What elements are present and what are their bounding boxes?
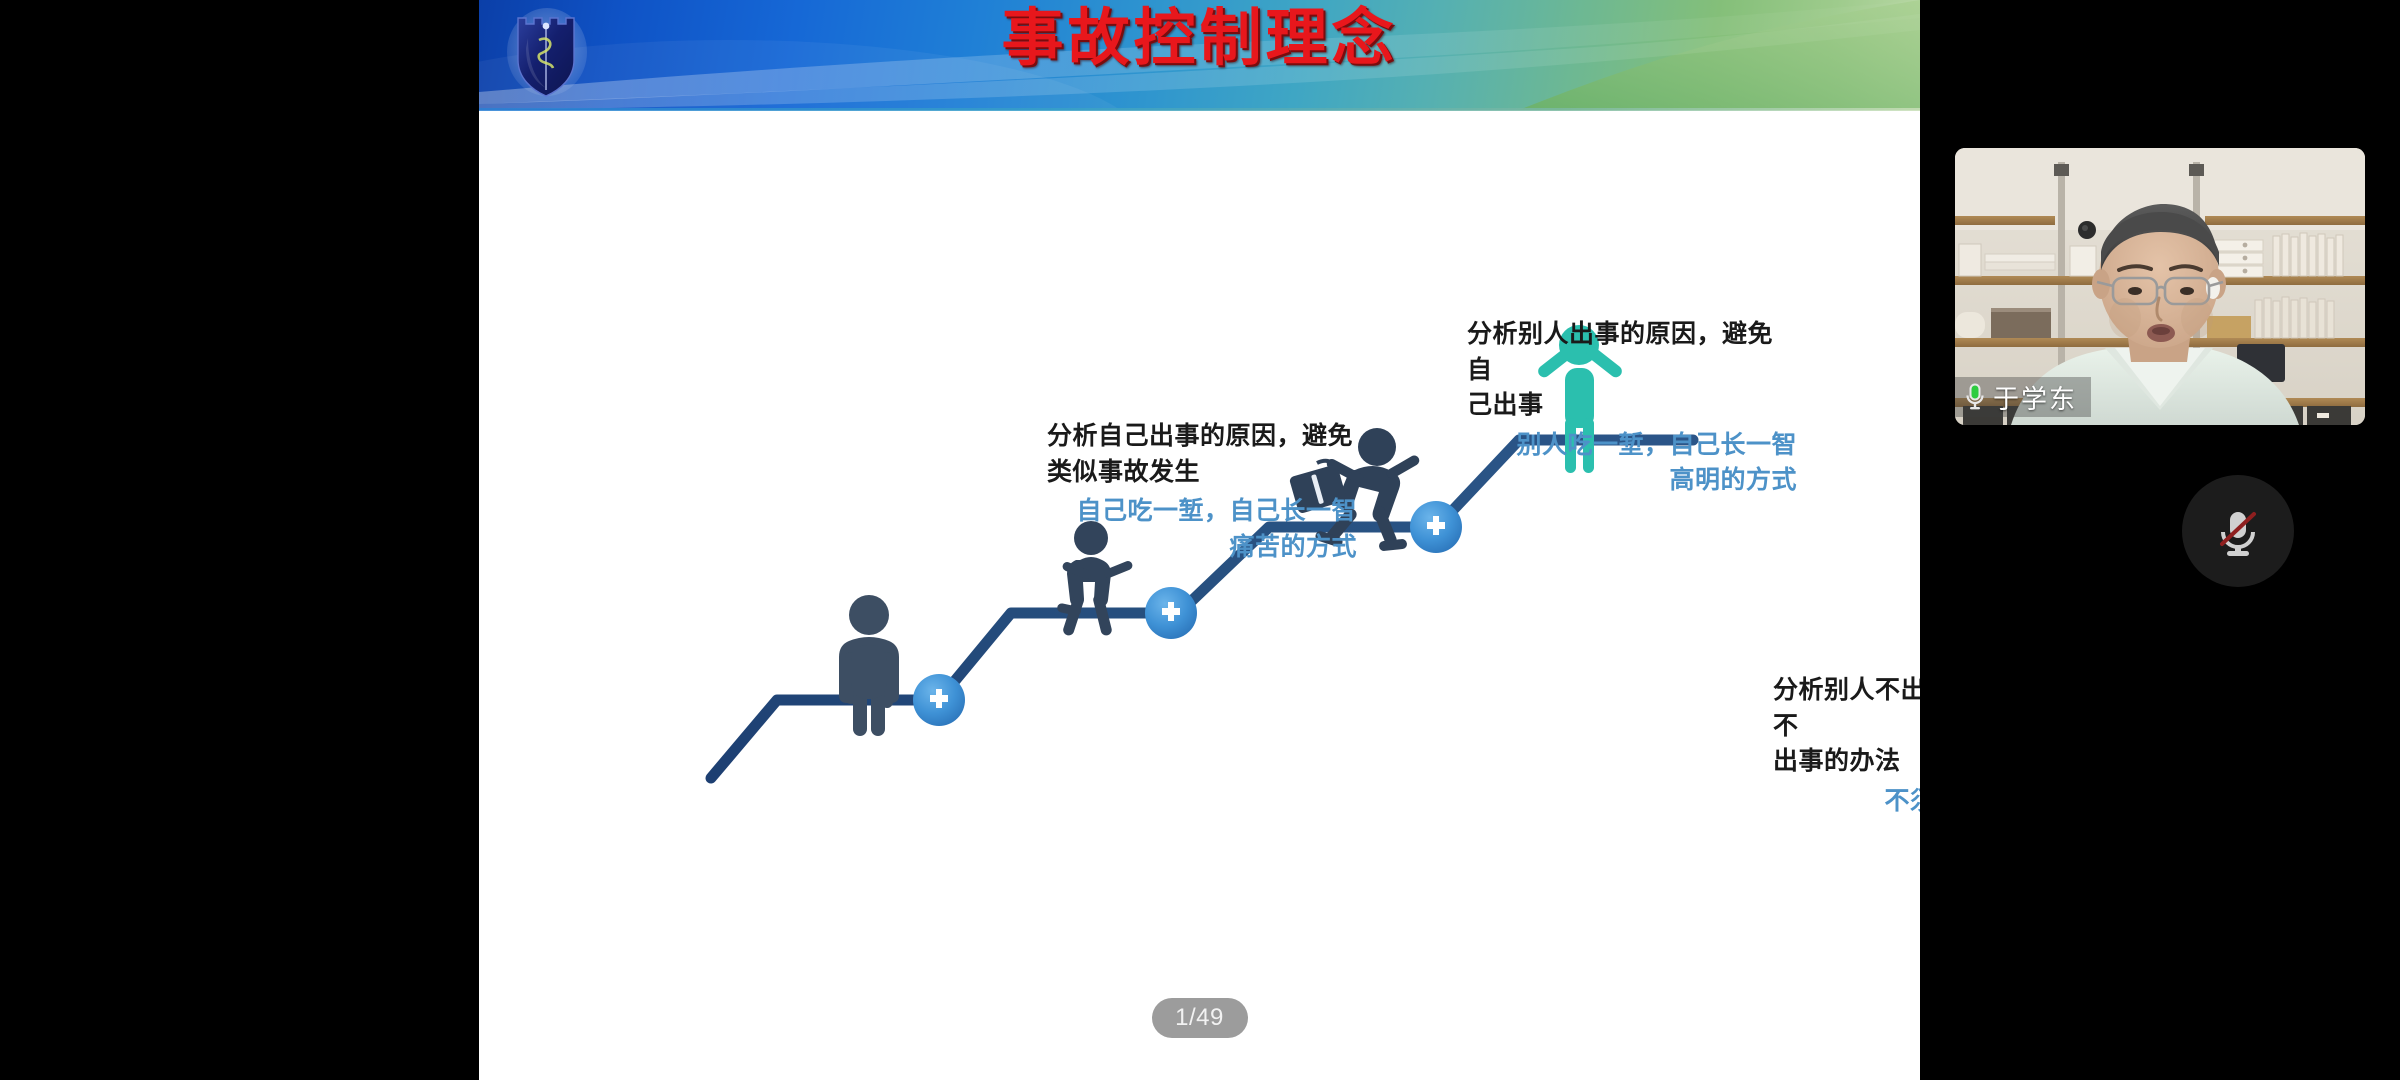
block1-dark-line-1: 分析自己出事的原因，避免 (1047, 418, 1357, 454)
figure-standing (839, 595, 899, 736)
block1-blue-line-1: 自己吃一堑，自己长一智 (1047, 493, 1357, 529)
block2-blue-line-1: 别人吃一堑，自己长一智 (1467, 427, 1797, 463)
block3-blue-line-1: 不须吃一堑，亦可长一智 (1773, 783, 1920, 819)
participant-name-label: 于学东 (1955, 377, 2091, 417)
milestone-node-2[interactable] (1145, 587, 1197, 639)
block3-blue-line-2: 智慧的方式 (1773, 818, 1920, 854)
text-block-self-accident: 分析自己出事的原因，避免 类似事故发生 自己吃一堑，自己长一智 痛苦的方式 (1047, 418, 1357, 564)
app-root: 事故控制理念 (0, 0, 2400, 1080)
participant-video-tile[interactable]: 于学东 (1955, 148, 2365, 425)
block2-dark-line-1: 分析别人出事的原因，避免自 (1467, 316, 1797, 387)
milestone-node-1[interactable] (913, 674, 965, 726)
mute-microphone-button[interactable] (2182, 475, 2294, 587)
milestone-node-3[interactable] (1410, 501, 1462, 553)
block3-dark-line-2: 出事的办法 (1773, 743, 1920, 779)
participant-name-text: 于学东 (1993, 379, 2077, 416)
microphone-icon (1965, 383, 1985, 411)
block3-dark-line-1: 分析别人不出事的原因，借鉴别人不 (1773, 672, 1920, 743)
microphone-muted-icon (2209, 502, 2267, 560)
block2-blue-line-2: 高明的方式 (1467, 462, 1797, 498)
block1-dark-line-2: 类似事故发生 (1047, 454, 1357, 490)
text-block-others-no-accident: 分析别人不出事的原因，借鉴别人不 出事的办法 不须吃一堑，亦可长一智 智慧的方式 (1773, 672, 1920, 854)
page-indicator[interactable]: 1/49 (1152, 998, 1248, 1038)
text-block-others-accident: 分析别人出事的原因，避免自 己出事 别人吃一堑，自己长一智 高明的方式 (1467, 316, 1797, 498)
presentation-slide[interactable]: 事故控制理念 (479, 0, 1920, 1080)
block1-blue-line-2: 痛苦的方式 (1047, 529, 1357, 565)
block2-dark-line-2: 己出事 (1467, 387, 1797, 423)
